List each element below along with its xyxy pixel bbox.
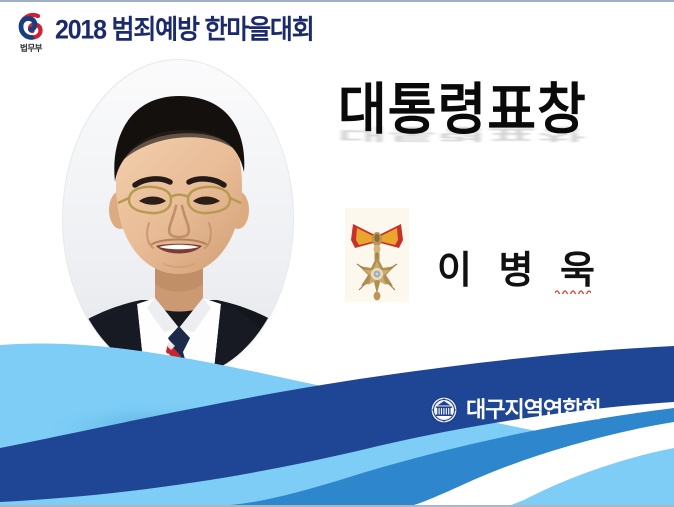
award-slide: 법무부 2018 범죄예방 한마을대회 <box>0 0 674 507</box>
slide-header: 법무부 2018 범죄예방 한마을대회 <box>0 2 674 60</box>
organization-name: 대구지역연합회 <box>466 397 601 423</box>
award-title: 대통령표창 <box>338 78 587 143</box>
presidential-medal-icon <box>345 208 409 302</box>
ministry-logo-caption: 법무부 <box>20 43 42 53</box>
event-title: 2018 범죄예방 한마을대회 <box>55 14 314 46</box>
footer-organization: 대구지역연합회 <box>429 395 601 425</box>
organization-seal-icon <box>429 395 459 425</box>
ministry-of-justice-logo: 법무부 <box>9 11 53 57</box>
recipient-name: 이 병 욱 <box>437 247 603 295</box>
presidential-medal <box>345 208 409 302</box>
korea-government-taegeuk-icon <box>15 11 47 43</box>
